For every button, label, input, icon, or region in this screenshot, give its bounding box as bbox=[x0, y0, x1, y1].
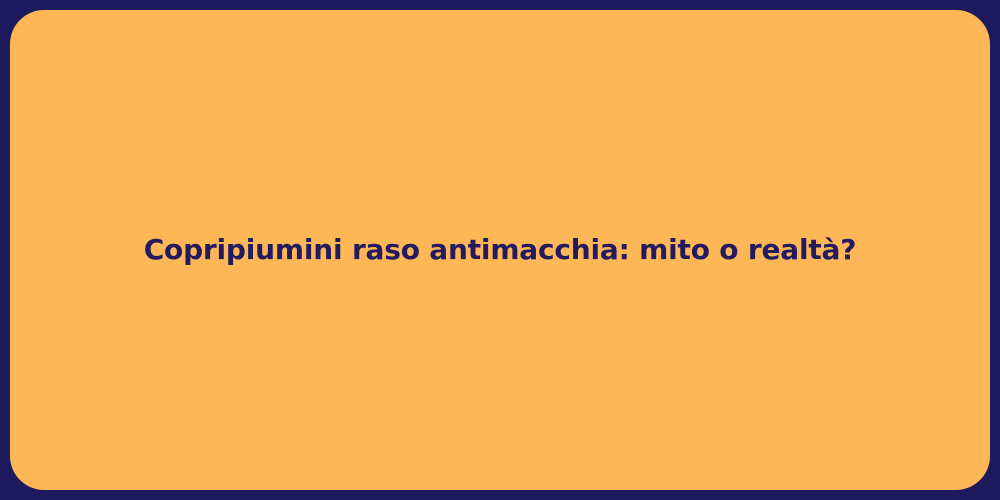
outer-border-frame: Copripiumini raso antimacchia: mito o re… bbox=[0, 0, 1000, 500]
page-title: Copripiumini raso antimacchia: mito o re… bbox=[84, 232, 917, 268]
title-card: Copripiumini raso antimacchia: mito o re… bbox=[10, 10, 990, 490]
